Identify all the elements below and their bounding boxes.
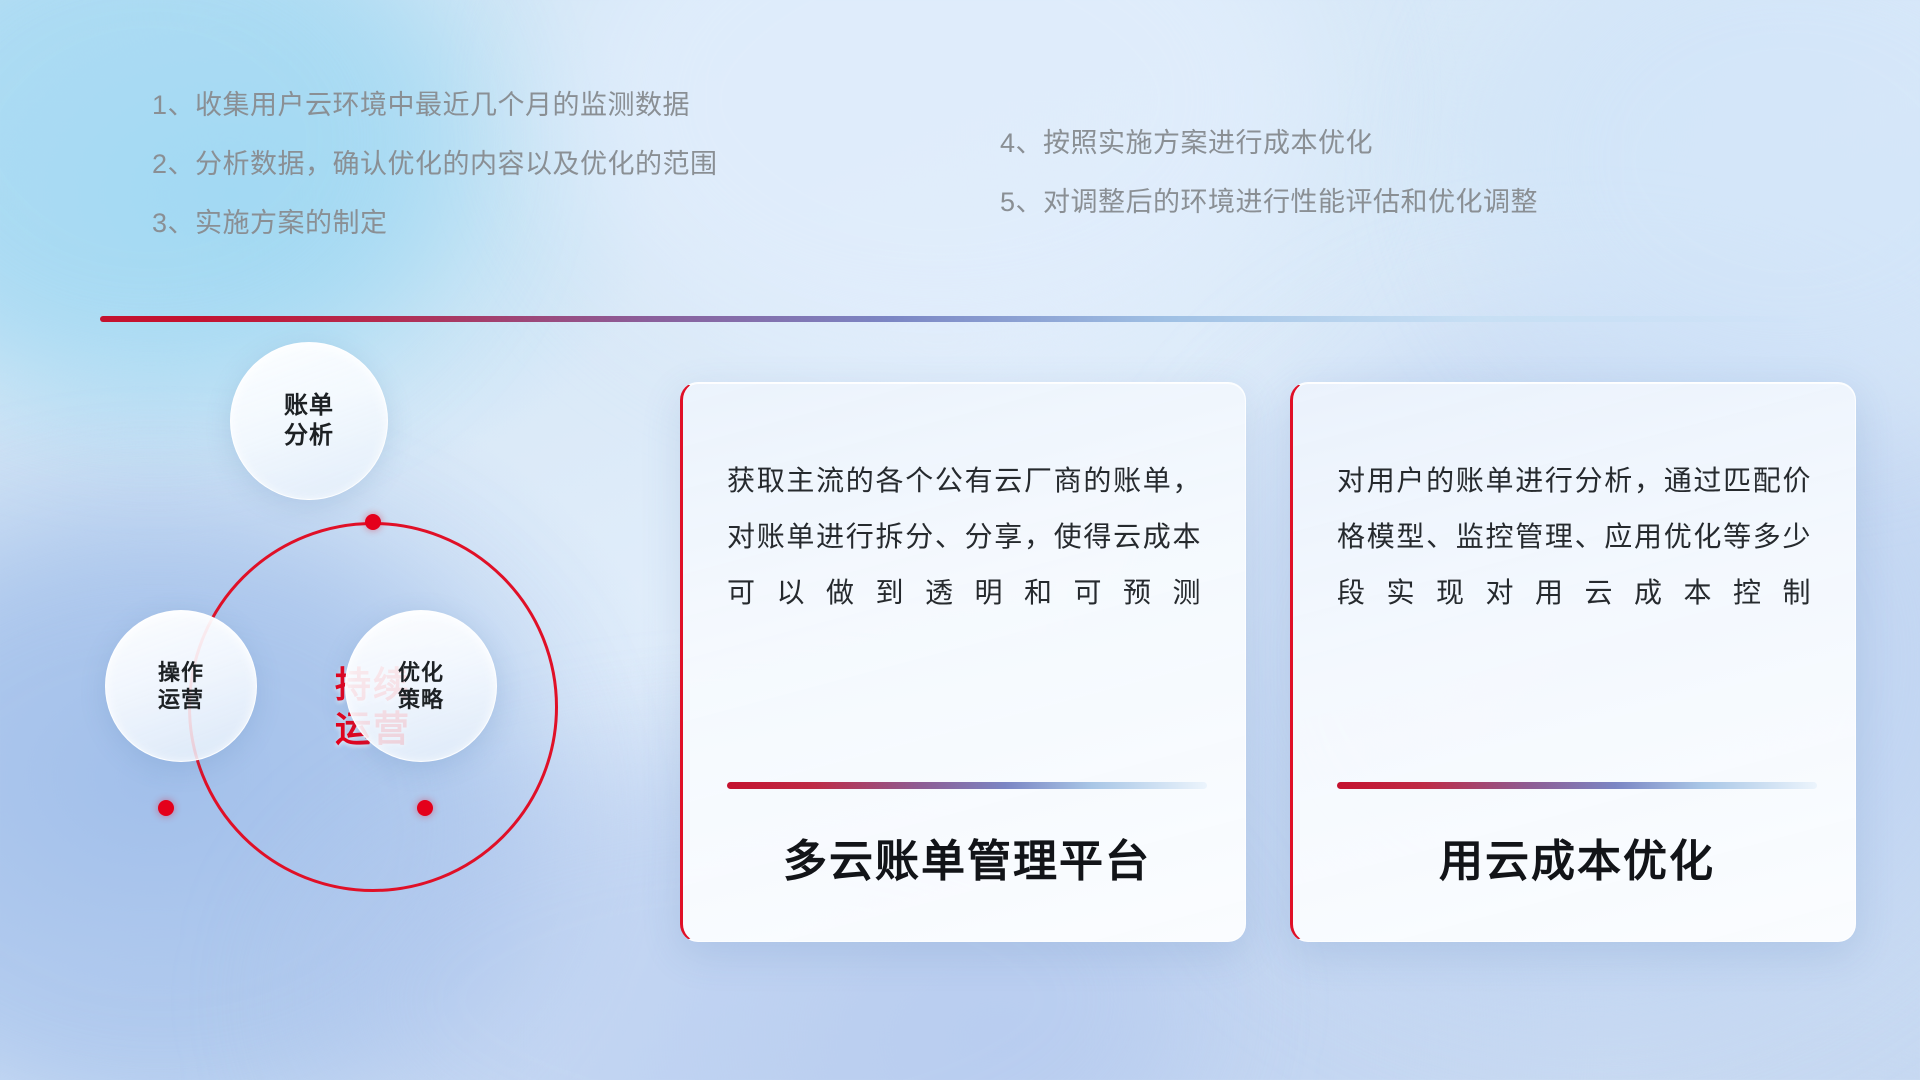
node-operations-line1: 操作 <box>158 659 204 687</box>
steps-column-right: 4、按照实施方案进行成本优化 5、对调整后的环境进行性能评估和优化调整 <box>1000 130 1538 248</box>
node-optimization-line1: 优化 <box>398 659 444 687</box>
connector-dot-right-icon <box>417 800 433 816</box>
node-optimization-line2: 策略 <box>398 686 444 714</box>
info-card-2-rule <box>1337 782 1817 789</box>
node-bill-analysis-line2: 分析 <box>284 421 334 451</box>
step-item-3: 3、实施方案的制定 <box>152 210 718 237</box>
step-item-5: 5、对调整后的环境进行性能评估和优化调整 <box>1000 189 1538 216</box>
info-card-1-body: 获取主流的各个公有云厂商的账单，对账单进行拆分、分享，使得云成本可以做到透明和可… <box>727 453 1201 621</box>
connector-dot-top-icon <box>365 514 381 530</box>
process-steps-list: 1、收集用户云环境中最近几个月的监测数据 2、分析数据，确认优化的内容以及优化的… <box>0 92 1920 252</box>
connector-dot-left-icon <box>158 800 174 816</box>
info-card-2-body: 对用户的账单进行分析，通过匹配价格模型、监控管理、应用优化等多少段实现对用云成本… <box>1337 453 1811 621</box>
section-divider <box>100 316 1820 322</box>
steps-column-left: 1、收集用户云环境中最近几个月的监测数据 2、分析数据，确认优化的内容以及优化的… <box>152 92 718 269</box>
info-card-1-rule <box>727 782 1207 789</box>
node-bill-analysis-line1: 账单 <box>284 391 334 421</box>
node-operations-line2: 运营 <box>158 686 204 714</box>
diagram-node-bill-analysis[interactable]: 账单 分析 <box>230 342 388 500</box>
info-card-1-title: 多云账单管理平台 <box>727 836 1207 889</box>
info-card-2-title: 用云成本优化 <box>1337 836 1817 889</box>
step-item-1: 1、收集用户云环境中最近几个月的监测数据 <box>152 92 718 119</box>
info-card-multicloud-billing[interactable]: 获取主流的各个公有云厂商的账单，对账单进行拆分、分享，使得云成本可以做到透明和可… <box>680 382 1246 942</box>
step-item-4: 4、按照实施方案进行成本优化 <box>1000 130 1538 157</box>
continuous-operation-diagram: 持续 运营 账单 分析 操作 运营 优化 策略 <box>100 350 640 970</box>
info-card-cost-optimization[interactable]: 对用户的账单进行分析，通过匹配价格模型、监控管理、应用优化等多少段实现对用云成本… <box>1290 382 1856 942</box>
diagram-node-operations[interactable]: 操作 运营 <box>105 610 257 762</box>
step-item-2: 2、分析数据，确认优化的内容以及优化的范围 <box>152 151 718 178</box>
diagram-node-optimization-strategy[interactable]: 优化 策略 <box>345 610 497 762</box>
slide-stage: 1、收集用户云环境中最近几个月的监测数据 2、分析数据，确认优化的内容以及优化的… <box>0 0 1920 1080</box>
